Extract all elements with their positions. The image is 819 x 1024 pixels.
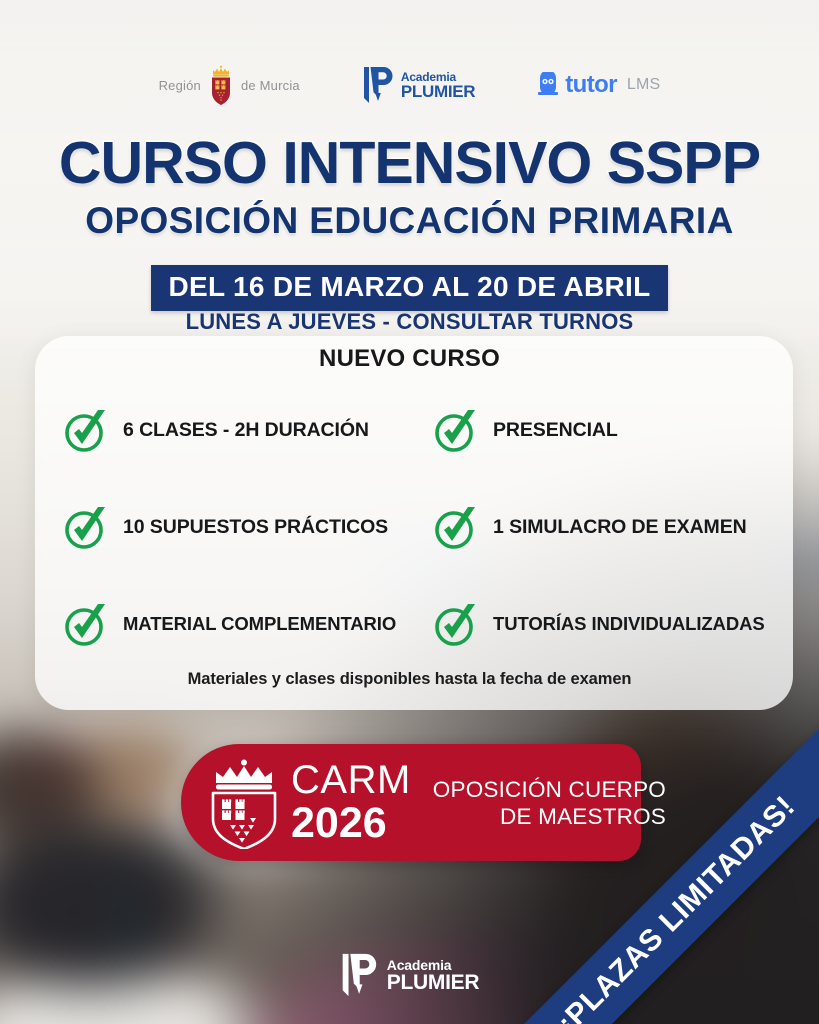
green-check-circle-icon	[60, 404, 112, 456]
logo-tutor-lms: tutor LMS	[537, 71, 660, 99]
carm-subtitle-line1: OPOSICIÓN CUERPO	[433, 776, 666, 803]
green-check-circle-icon	[430, 404, 482, 456]
list-item: TUTORÍAS INDIVIDUALIZADAS	[430, 598, 800, 650]
plumier-line2: PLUMIER	[401, 83, 475, 100]
plumier-line1: Academia	[401, 71, 475, 83]
list-item-label: 10 SUPUESTOS PRÁCTICOS	[123, 516, 388, 539]
schedule-note: LUNES A JUEVES - CONSULTAR TURNOS	[0, 309, 819, 335]
list-item: PRESENCIAL	[430, 404, 800, 456]
header-logo-strip: Región	[0, 64, 819, 106]
list-item-label: 1 SIMULACRO DE EXAMEN	[493, 516, 747, 539]
footer-plumier-line1: Academia	[387, 958, 479, 972]
green-check-circle-icon	[430, 501, 482, 553]
list-item-label: TUTORÍAS INDIVIDUALIZADAS	[493, 613, 765, 635]
green-check-circle-icon	[60, 598, 112, 650]
feature-card-note: Materiales y clases disponibles hasta la…	[0, 670, 819, 689]
feature-list: 6 CLASES - 2H DURACIÓN PRESENCIAL 10 SUP…	[60, 404, 800, 650]
list-item: 6 CLASES - 2H DURACIÓN	[60, 404, 430, 456]
green-check-circle-icon	[430, 598, 482, 650]
list-item-label: 6 CLASES - 2H DURACIÓN	[123, 419, 369, 442]
carm-year: 2026	[291, 802, 411, 845]
murcia-shield-icon	[207, 64, 235, 106]
carm-acronym: CARM	[291, 760, 411, 800]
carm-subtitle-line2: DE MAESTROS	[500, 803, 666, 830]
green-check-circle-icon	[60, 501, 112, 553]
tutor-word: tutor	[565, 71, 617, 99]
list-item: 10 SUPUESTOS PRÁCTICOS	[60, 501, 430, 553]
region-label-right: de Murcia	[241, 78, 300, 93]
list-item-label: MATERIAL COMPLEMENTARIO	[123, 613, 396, 635]
region-label-left: Región	[159, 78, 201, 93]
logo-region-de-murcia: Región	[159, 64, 300, 106]
list-item: 1 SIMULACRO DE EXAMEN	[430, 501, 800, 553]
tutor-lms-owl-icon	[537, 72, 559, 98]
carm-banner: CARM 2026 OPOSICIÓN CUERPO DE MAESTROS	[181, 744, 641, 861]
promo-poster: Región	[0, 0, 819, 1024]
feature-card-title: NUEVO CURSO	[0, 345, 819, 373]
date-banner: DEL 16 DE MARZO AL 20 DE ABRIL	[151, 265, 669, 311]
lms-word: LMS	[627, 76, 661, 94]
plumier-pen-p-icon	[362, 64, 396, 106]
logo-academia-plumier-header: Academia PLUMIER	[362, 64, 475, 106]
list-item: MATERIAL COMPLEMENTARIO	[60, 598, 430, 650]
page-subtitle: OPOSICIÓN EDUCACIÓN PRIMARIA	[0, 200, 819, 242]
carm-coat-of-arms-icon	[203, 757, 277, 849]
footer-logo-academia-plumier: Academia PLUMIER	[340, 950, 479, 1000]
footer-plumier-line2: PLUMIER	[387, 972, 479, 993]
list-item-label: PRESENCIAL	[493, 419, 618, 442]
page-title: CURSO INTENSIVO SSPP	[0, 129, 819, 197]
plumier-pen-p-icon	[340, 950, 380, 1000]
